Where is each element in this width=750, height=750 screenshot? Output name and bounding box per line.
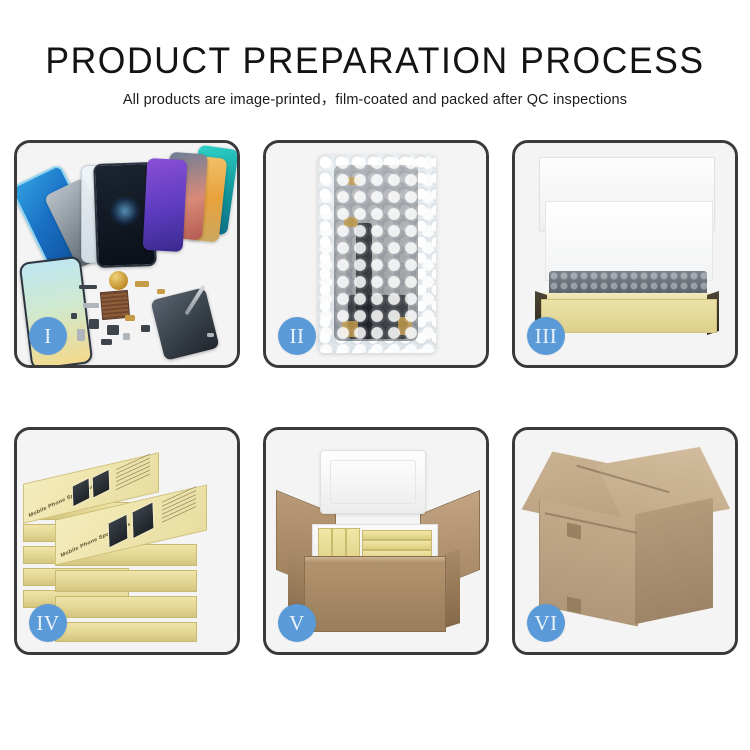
small-part [83,303,99,308]
disassembled-back-housing [150,287,219,361]
process-step-card-3: III [512,140,738,368]
process-step-card-6: VI [512,427,738,655]
foam-box-lid [320,450,426,514]
header: PRODUCT PREPARATION PROCESS All products… [0,0,750,128]
product-preparation-infographic: PRODUCT PREPARATION PROCESS All products… [0,0,750,750]
carton-tape-tab [567,597,581,614]
process-step-card-2: II [263,140,489,368]
kraft-box-front [541,299,717,333]
carton-tape-tab [567,523,581,540]
small-part [135,281,149,287]
step-badge-3: III [527,317,565,355]
box-spec-lines [162,486,196,524]
small-part [101,339,112,345]
carton-body [304,556,446,632]
step-badge-5: V [278,604,316,642]
process-step-grid: I II [14,140,738,680]
small-part [79,285,97,289]
small-part [77,329,85,341]
small-part [207,333,214,337]
small-part [141,325,150,332]
small-part [125,315,135,321]
page-subtitle: All products are image-printed，film-coat… [0,82,750,109]
stacked-box [55,570,197,592]
white-foam-liner [545,201,713,281]
step-badge-4: IV [29,604,67,642]
stacked-box [55,622,197,642]
small-part [89,319,99,329]
gold-contact [344,217,358,227]
page-title: PRODUCT PREPARATION PROCESS [15,0,735,82]
small-part [123,333,130,340]
yellow-product-box [362,540,432,550]
process-step-card-1: I [14,140,240,368]
step-badge-1: I [29,317,67,355]
step-badge-2: II [278,317,316,355]
box-window [132,501,155,539]
box-window [72,477,91,508]
box-window [92,468,111,499]
stacked-box [55,596,197,618]
box-window [108,513,129,548]
process-step-card-5: V [263,427,489,655]
gold-contact [342,321,358,337]
bubble-wrap-package [318,155,436,353]
gold-coil-part [109,271,128,290]
gold-contact [348,177,360,185]
step-badge-6: VI [527,604,565,642]
carton-side-panel [635,498,713,625]
small-part [157,289,165,294]
yellow-product-box [362,530,432,540]
small-part [71,313,77,319]
small-part [107,325,119,335]
box-spec-lines [116,453,150,491]
gold-contact [398,317,412,335]
process-step-card-4: Mobile Phone Spare Parts Mobile Phone Sp… [14,427,240,655]
purple-phone [143,158,188,252]
